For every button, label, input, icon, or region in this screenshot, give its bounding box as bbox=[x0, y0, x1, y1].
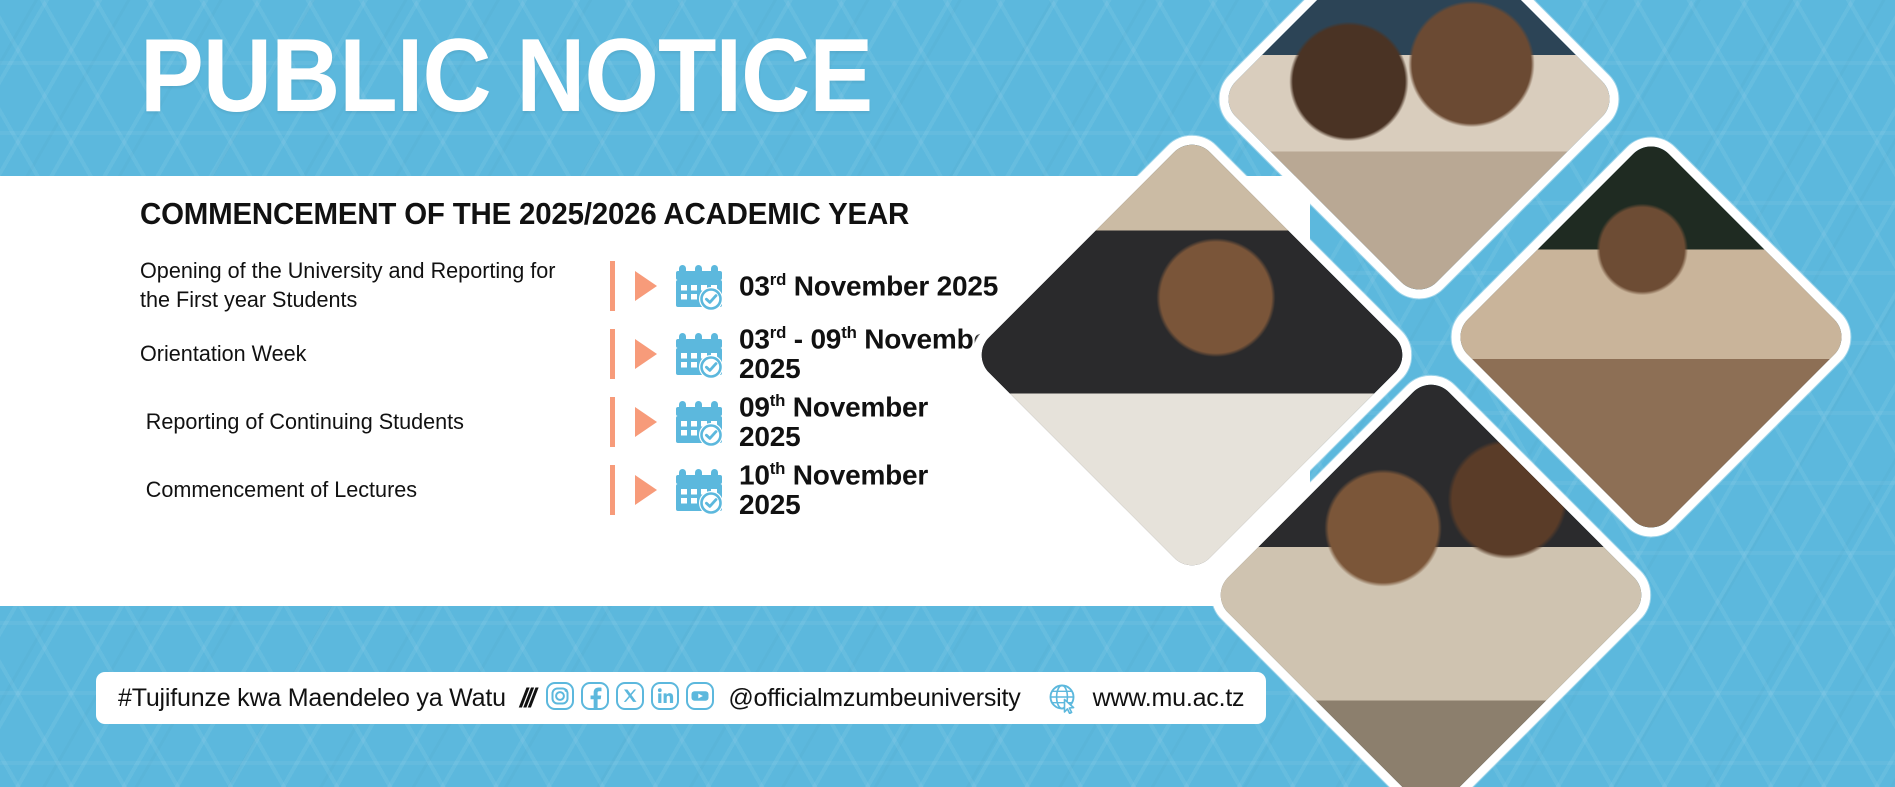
calendar-check-icon bbox=[673, 394, 725, 451]
schedule-row-label: Commencement of Lectures bbox=[140, 476, 591, 505]
triangle-marker-icon bbox=[635, 407, 657, 437]
subtitle-heading: COMMENCEMENT OF THE 2025/2026 ACADEMIC Y… bbox=[140, 196, 909, 232]
youtube-icon[interactable] bbox=[685, 681, 715, 716]
calendar-check-icon bbox=[673, 326, 725, 383]
date-ordinal-suffix: rd bbox=[770, 323, 786, 342]
hashtag-slogan: #Tujifunze kwa Maendeleo ya Watu bbox=[118, 684, 506, 713]
schedule-row-label: Reporting of Continuing Students bbox=[140, 408, 591, 437]
triangle-marker-icon bbox=[635, 339, 657, 369]
calendar-check-icon bbox=[673, 258, 725, 315]
social-icon-row bbox=[545, 681, 715, 716]
date-day-end: 09 bbox=[810, 323, 841, 354]
date-ordinal-suffix: rd bbox=[770, 270, 786, 289]
schedule-row-date: 03rd - 09th November2025 bbox=[739, 324, 1000, 384]
row-divider bbox=[610, 261, 615, 311]
page-title: PUBLIC NOTICE bbox=[140, 22, 872, 131]
date-rest: November bbox=[785, 459, 928, 490]
schedule-row: Orientation Week bbox=[140, 320, 1160, 388]
triangle-marker-icon bbox=[635, 271, 657, 301]
slash-separator: /// bbox=[520, 683, 534, 714]
date-day: 10 bbox=[739, 459, 770, 490]
instagram-icon[interactable] bbox=[545, 681, 575, 716]
schedule-row-date: 03rd November 2025 bbox=[739, 271, 998, 301]
public-notice-poster: PUBLIC NOTICE COMMENCEMENT OF THE 2025/2… bbox=[0, 0, 1895, 787]
date-day: 03 bbox=[739, 323, 770, 354]
date-rest: November bbox=[785, 391, 928, 422]
schedule-list: Opening of the University and Reporting … bbox=[140, 252, 1160, 524]
date-year: 2025 bbox=[739, 489, 801, 520]
date-year: 2025 bbox=[739, 353, 801, 384]
schedule-row: Opening of the University and Reporting … bbox=[140, 252, 1160, 320]
schedule-row-label: Orientation Week bbox=[140, 340, 591, 369]
schedule-row: Reporting of Continuing Students bbox=[140, 388, 1160, 456]
triangle-marker-icon bbox=[635, 475, 657, 505]
globe-cursor-icon bbox=[1047, 682, 1079, 714]
schedule-row-date: 10th November2025 bbox=[739, 460, 928, 520]
x-twitter-icon[interactable] bbox=[615, 681, 645, 716]
date-year: 2025 bbox=[739, 421, 801, 452]
schedule-row: Commencement of Lectures bbox=[140, 456, 1160, 524]
date-rest: November bbox=[857, 323, 1000, 354]
date-range-separator: - bbox=[786, 323, 810, 354]
row-divider bbox=[610, 465, 615, 515]
facebook-icon[interactable] bbox=[580, 681, 610, 716]
date-day: 03 bbox=[739, 270, 770, 301]
linkedin-icon[interactable] bbox=[650, 681, 680, 716]
date-day: 09 bbox=[739, 391, 770, 422]
schedule-row-label: Opening of the University and Reporting … bbox=[140, 257, 591, 315]
row-divider bbox=[610, 329, 615, 379]
calendar-check-icon bbox=[673, 462, 725, 519]
date-ordinal-suffix: th bbox=[770, 459, 785, 478]
social-handle: @officialmzumbeuniversity bbox=[728, 684, 1020, 713]
date-rest: November 2025 bbox=[786, 270, 998, 301]
date-ordinal-suffix: th bbox=[770, 391, 785, 410]
row-divider bbox=[610, 397, 615, 447]
website-url: www.mu.ac.tz bbox=[1093, 684, 1245, 713]
footer-bar: #Tujifunze kwa Maendeleo ya Watu /// bbox=[96, 672, 1266, 724]
schedule-row-date: 09th November2025 bbox=[739, 392, 928, 452]
date-ordinal-suffix-end: th bbox=[841, 323, 856, 342]
